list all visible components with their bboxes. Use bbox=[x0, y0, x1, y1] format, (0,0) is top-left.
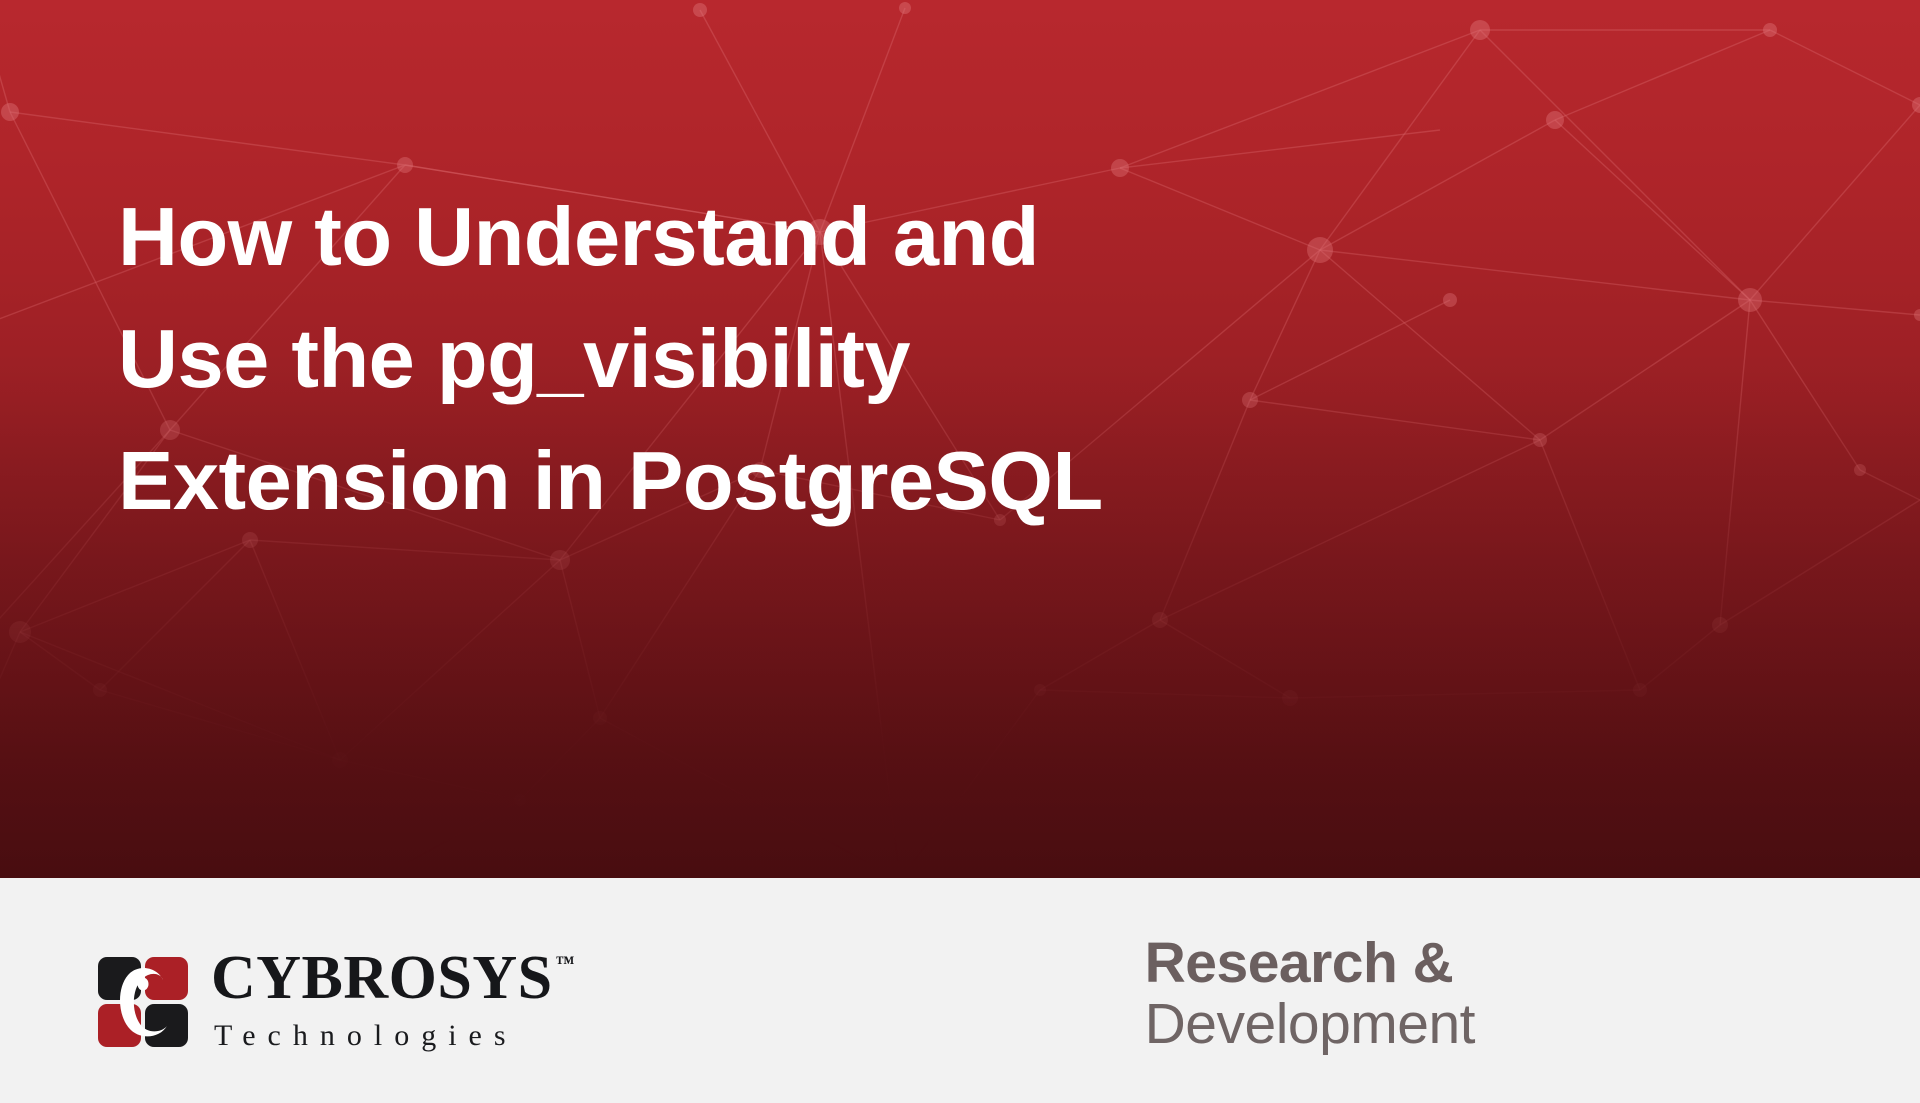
page-title-line-3: Extension in PostgreSQL bbox=[118, 420, 1598, 542]
footer-bar: CYBROSYS ™ Technologies Research & Devel… bbox=[0, 878, 1920, 1103]
trademark-symbol: ™ bbox=[556, 954, 575, 973]
cybrosys-logo: CYBROSYS ™ Technologies bbox=[97, 950, 575, 1053]
department-label-line-2: Development bbox=[1145, 993, 1475, 1055]
page-title-line-1: How to Understand and bbox=[118, 176, 1598, 298]
page-title-line-2: Use the pg_visibility bbox=[118, 298, 1598, 420]
title-slide: How to Understand and Use the pg_visibil… bbox=[0, 0, 1920, 1103]
cybrosys-name: CYBROSYS bbox=[211, 950, 553, 1007]
page-title: How to Understand and Use the pg_visibil… bbox=[118, 176, 1598, 542]
hero-banner: How to Understand and Use the pg_visibil… bbox=[0, 0, 1920, 878]
department-label: Research & Development bbox=[1145, 933, 1475, 1055]
cybrosys-tagline: Technologies bbox=[214, 1019, 575, 1053]
cybrosys-logo-icon bbox=[97, 956, 189, 1048]
department-label-line-1: Research & bbox=[1145, 933, 1475, 993]
cybrosys-name-row: CYBROSYS ™ bbox=[211, 950, 575, 1007]
cybrosys-wordmark: CYBROSYS ™ Technologies bbox=[211, 950, 575, 1053]
